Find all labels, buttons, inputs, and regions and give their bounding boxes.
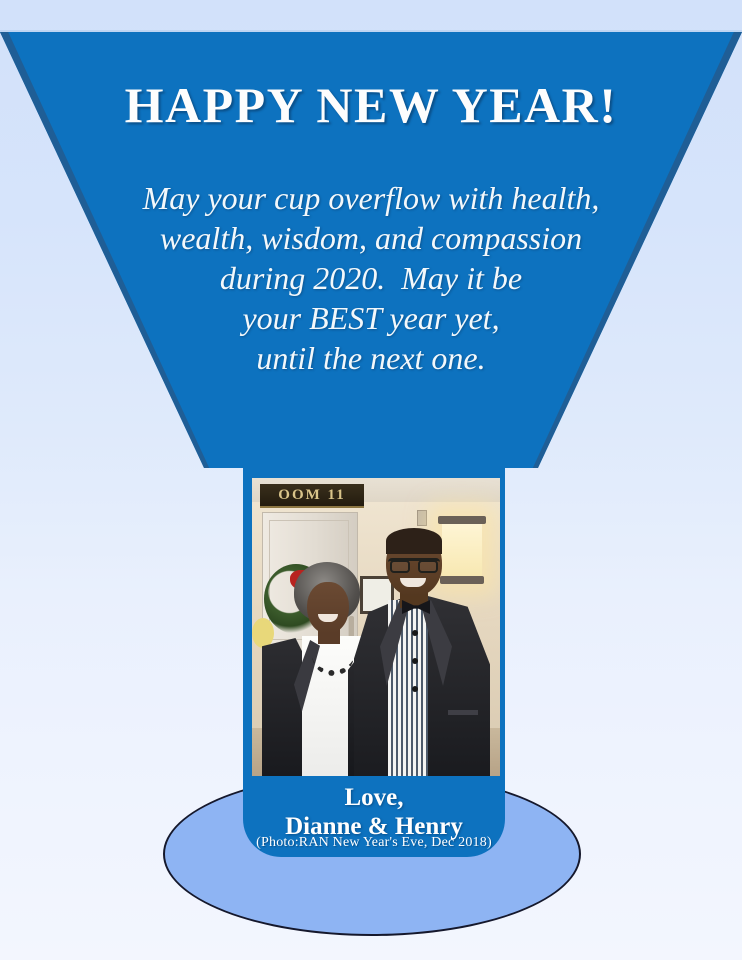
photo-wall-sconce bbox=[442, 518, 482, 582]
message-line-5: until the next one. bbox=[60, 338, 682, 378]
signoff-block: Love, Dianne & Henry bbox=[243, 783, 505, 841]
photo-man-shirt-stud bbox=[412, 630, 418, 636]
couple-photograph: OOM 11 bbox=[252, 478, 500, 776]
photo-sconce-bottom-bar bbox=[440, 576, 484, 584]
headline-text: HAPPY NEW YEAR! bbox=[0, 76, 742, 134]
photo-room-sign-text: OOM 11 bbox=[260, 485, 364, 505]
message-block: May your cup overflow with health, wealt… bbox=[60, 178, 682, 378]
photo-man-shirt-stud bbox=[412, 658, 418, 664]
photo-man-glasses-lens-left bbox=[390, 560, 410, 573]
message-line-1: May your cup overflow with health, bbox=[60, 178, 682, 218]
message-line-4: your BEST year yet, bbox=[60, 298, 682, 338]
photo-man-jacket-pocket bbox=[448, 710, 478, 715]
photo-balloon bbox=[252, 618, 274, 648]
photo-man-glasses-lens-right bbox=[418, 560, 438, 573]
signoff-line-1: Love, bbox=[243, 783, 505, 812]
message-line-3: during 2020. May it be bbox=[60, 258, 682, 298]
photo-door-handle bbox=[349, 616, 354, 638]
photo-man-shirt-stud bbox=[412, 686, 418, 692]
photo-man-hair bbox=[386, 528, 442, 554]
message-line-2: wealth, wisdom, and compassion bbox=[60, 218, 682, 258]
photo-credit-text: (Photo:RAN New Year's Eve, Dec 2018) bbox=[233, 835, 515, 851]
photo-sconce-top-bar bbox=[438, 516, 486, 524]
photo-woman-face bbox=[307, 582, 349, 634]
greeting-card-canvas: HAPPY NEW YEAR! May your cup overflow wi… bbox=[0, 0, 742, 960]
photo-light-switch bbox=[417, 510, 427, 526]
